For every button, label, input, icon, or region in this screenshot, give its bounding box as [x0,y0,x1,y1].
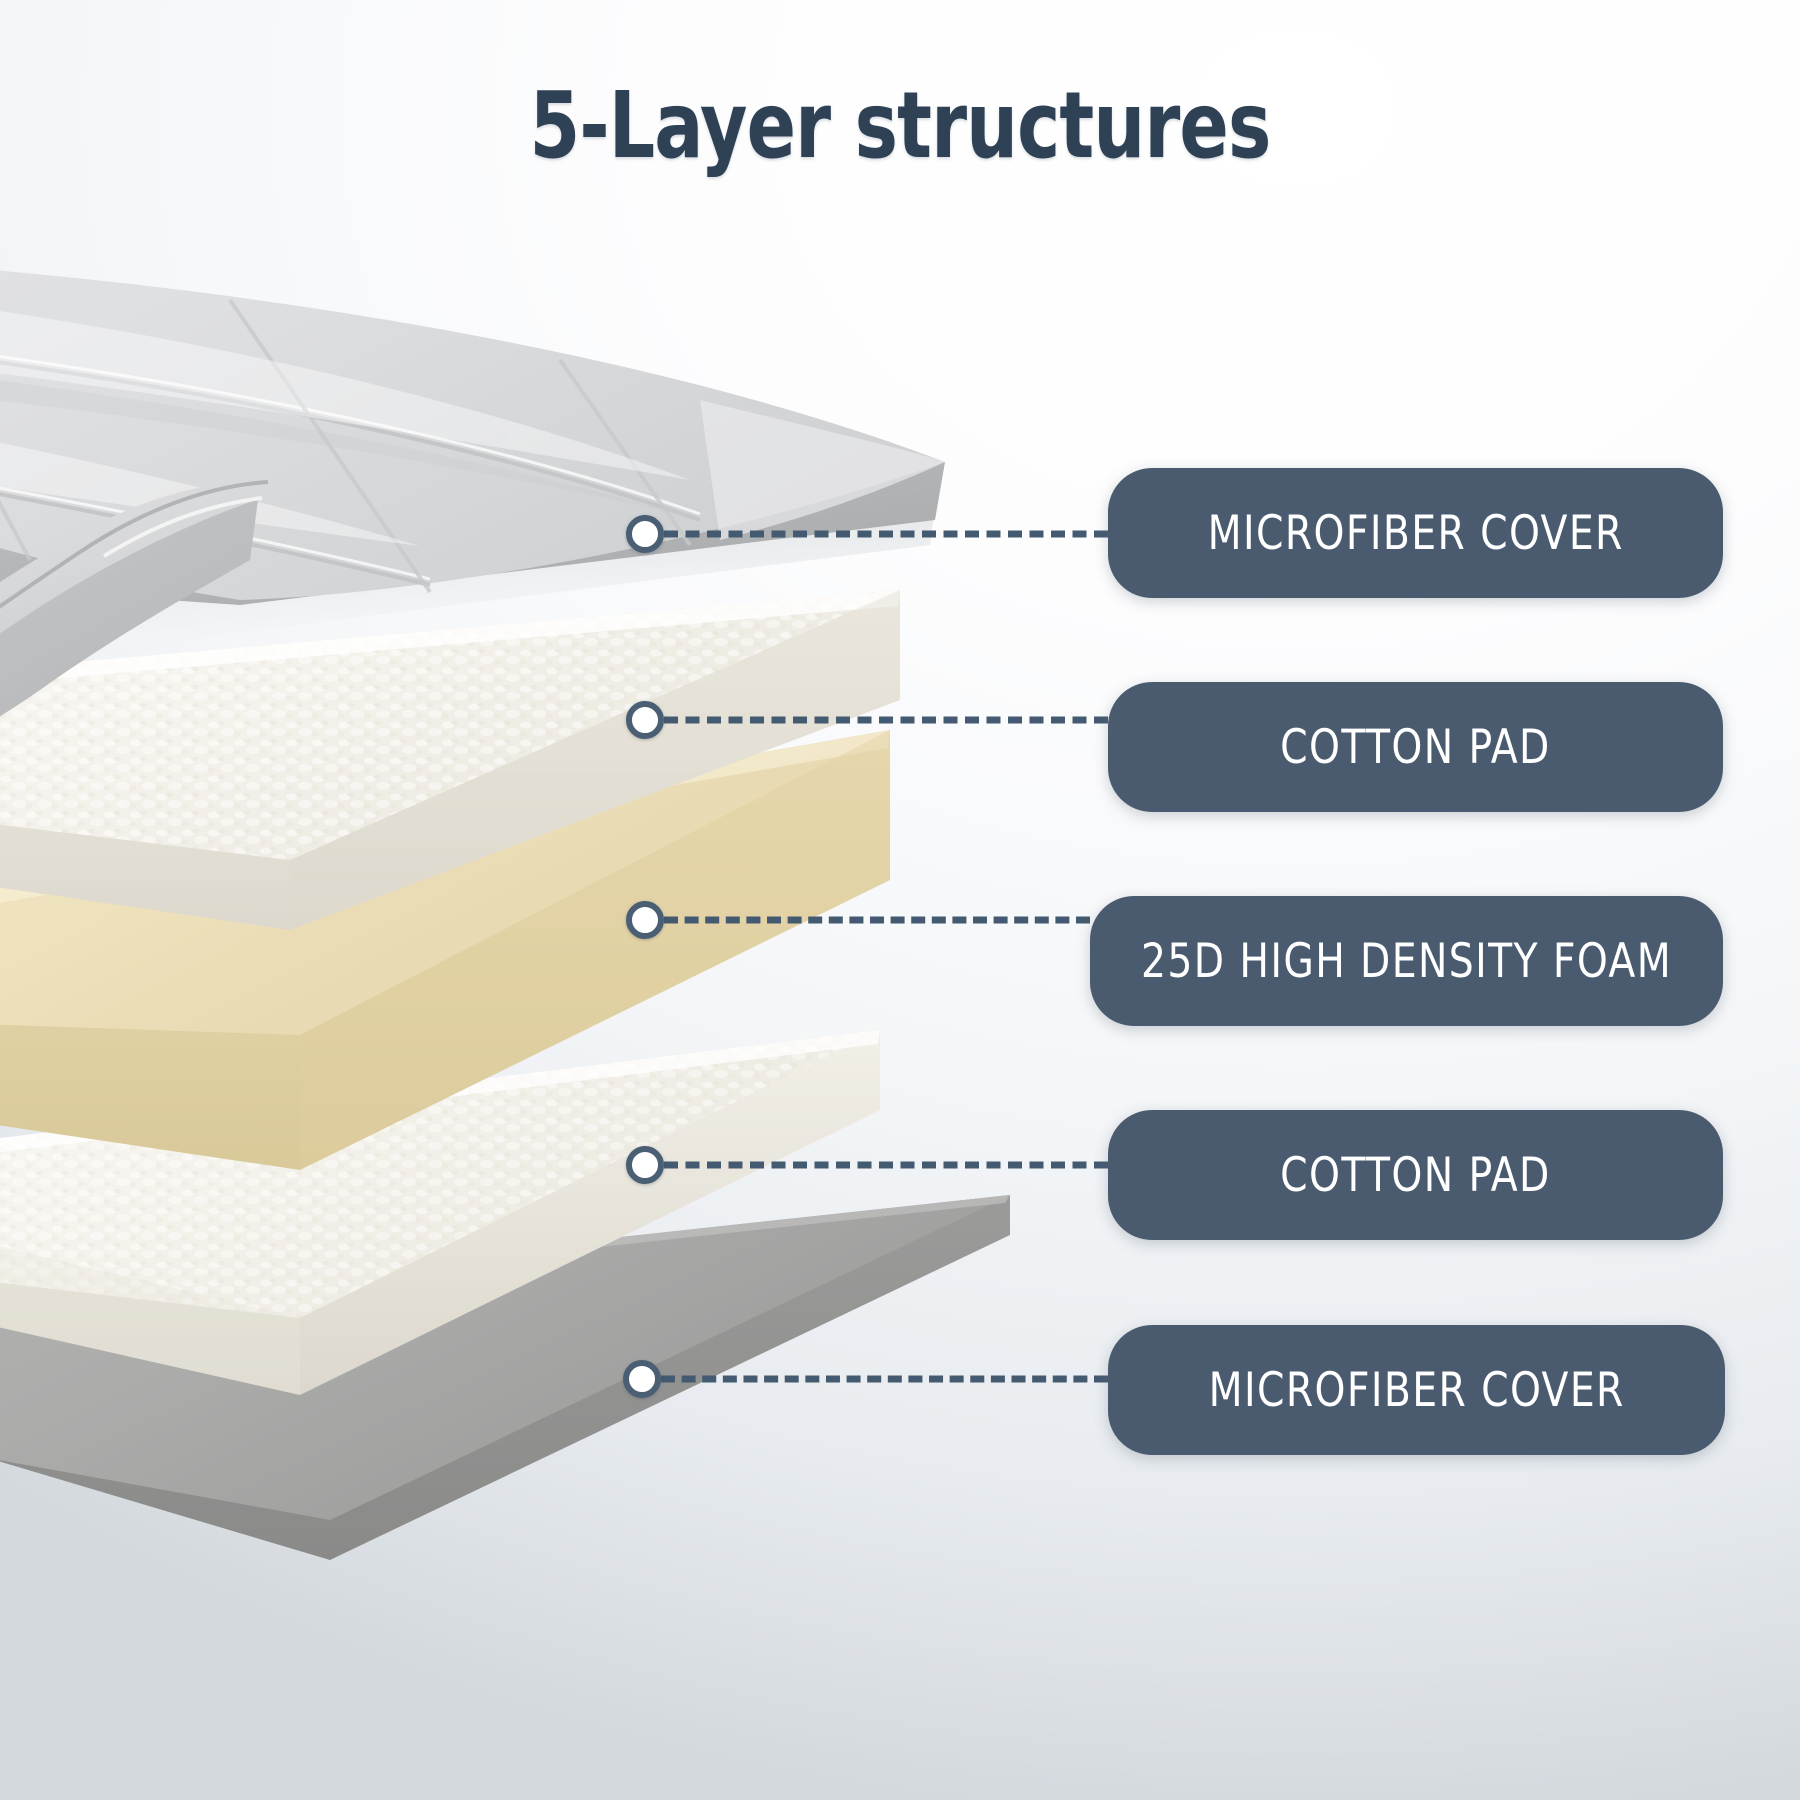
label-text: COTTON PAD [1280,1148,1551,1203]
label-text: MICROFIBER COVER [1208,1363,1624,1418]
label-text: 25D HIGH DENSITY FOAM [1141,934,1672,989]
callout-dot-icon [623,1360,661,1398]
page-title: 5-Layer structures [108,72,1692,179]
label-text: MICROFIBER COVER [1207,506,1623,561]
label-text: COTTON PAD [1280,720,1551,775]
callout-dot-icon [626,701,664,739]
label-pill-microfiber-cover-top[interactable]: MICROFIBER COVER [1108,468,1723,598]
leader-line-1 [664,531,1108,538]
leader-line-4 [664,1162,1108,1169]
label-pill-cotton-pad-upper[interactable]: COTTON PAD [1108,682,1723,812]
leader-line-2 [664,717,1108,724]
callout-dot-icon [626,515,664,553]
callout-dot-icon [626,901,664,939]
leader-line-3 [664,917,1090,924]
infographic-canvas: 5-Layer structures MICROFIBER COVER COTT… [0,0,1800,1800]
label-pill-25d-high-density-foam[interactable]: 25D HIGH DENSITY FOAM [1090,896,1723,1026]
leader-line-5 [661,1376,1108,1383]
label-pill-microfiber-cover-bottom[interactable]: MICROFIBER COVER [1108,1325,1725,1455]
callout-dot-icon [626,1146,664,1184]
label-pill-cotton-pad-lower[interactable]: COTTON PAD [1108,1110,1723,1240]
